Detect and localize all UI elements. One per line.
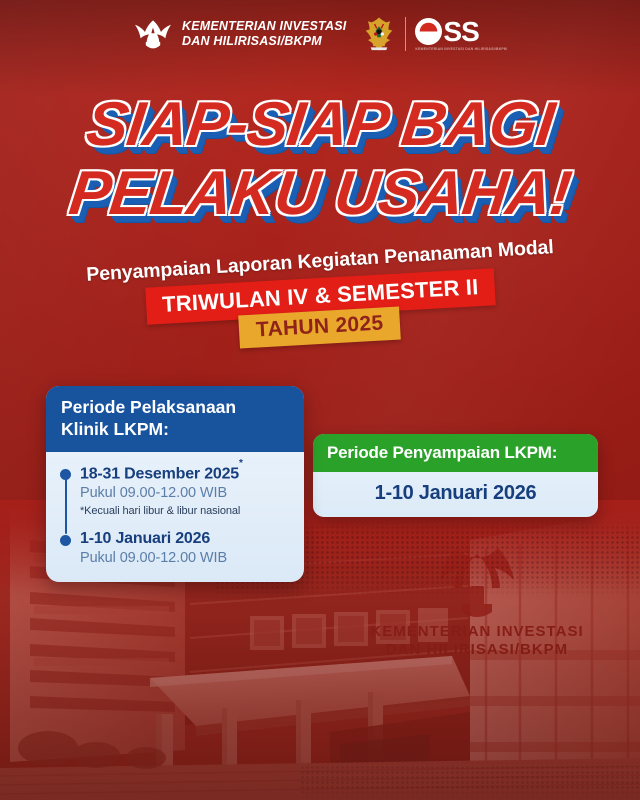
timeline-date: 18-31 Desember 2025*: [80, 464, 292, 484]
timeline-connector: [65, 475, 68, 535]
clinic-timeline: 18-31 Desember 2025* Pukul 09.00-12.00 W…: [60, 464, 292, 569]
timeline-asterisk: *: [239, 458, 243, 469]
subtitle-group: Penyampaian Laporan Kegiatan Penanaman M…: [0, 250, 640, 344]
clinic-card-title-line1: Periode Pelaksanaan: [61, 397, 290, 419]
band-gold-row: TAHUN 2025: [0, 311, 640, 344]
dot-texture-lower: [300, 760, 640, 800]
submission-period-card: Periode Penyampaian LKPM: 1-10 Januari 2…: [313, 434, 598, 517]
clinic-card-body: 18-31 Desember 2025* Pukul 09.00-12.00 W…: [46, 452, 304, 583]
oss-indonesian-flag-circle-icon: [415, 18, 442, 45]
ministry-name-line1: KEMENTERIAN INVESTASI: [182, 19, 346, 34]
ministry-name-line2: DAN HILIRISASI/BKPM: [182, 34, 346, 49]
clinic-card-title: Periode Pelaksanaan Klinik LKPM:: [46, 386, 304, 452]
timeline-time: Pukul 09.00-12.00 WIB: [80, 484, 292, 503]
timeline-note: *Kecuali hari libur & libur nasional: [80, 505, 292, 519]
header-logos: KEMENTERIAN INVESTASI DAN HILIRISASI/BKP…: [0, 14, 640, 54]
timeline-dot-icon: [60, 469, 71, 480]
oss-logo: SS KEMENTERIAN INVESTASI DAN HILIRISASI/…: [415, 18, 507, 51]
timeline-dot-icon: [60, 535, 71, 546]
submission-card-body: 1-10 Januari 2026: [313, 472, 598, 517]
clinic-card-title-line2: Klinik LKPM:: [61, 419, 290, 441]
oss-letters: SS: [443, 18, 478, 45]
headline-line-2: PELAKU USAHA!: [0, 165, 640, 222]
logo-divider: [405, 17, 406, 51]
headline-line-1: SIAP-SIAP BAGI: [0, 96, 640, 153]
timeline-time: Pukul 09.00-12.00 WIB: [80, 549, 292, 568]
oss-wordmark: SS: [415, 18, 478, 45]
timeline-entry: 1-10 Januari 2026 Pukul 09.00-12.00 WIB: [80, 530, 292, 568]
timeline-entry: 18-31 Desember 2025* Pukul 09.00-12.00 W…: [80, 464, 292, 519]
submission-card-title: Periode Penyampaian LKPM:: [313, 434, 598, 472]
garuda-pancasila-icon: [362, 14, 396, 54]
ministry-fan-logo-icon: [133, 14, 173, 54]
timeline-date: 1-10 Januari 2026: [80, 530, 292, 548]
headline: SIAP-SIAP BAGI PELAKU USAHA!: [0, 96, 640, 222]
oss-subtitle: KEMENTERIAN INVESTASI DAN HILIRISASI/BKP…: [415, 47, 507, 51]
poster-root: KEMENTERIAN INVESTASI DAN HILIRISASI/BKP…: [0, 0, 640, 800]
ministry-brand: KEMENTERIAN INVESTASI DAN HILIRISASI/BKP…: [133, 14, 346, 54]
oss-brand: SS KEMENTERIAN INVESTASI DAN HILIRISASI/…: [362, 14, 507, 54]
ministry-name: KEMENTERIAN INVESTASI DAN HILIRISASI/BKP…: [182, 19, 346, 49]
timeline-date-text: 18-31 Desember 2025: [80, 465, 239, 482]
timeline-date-text: 1-10 Januari 2026: [80, 530, 210, 547]
clinic-period-card: Periode Pelaksanaan Klinik LKPM: 18-31 D…: [46, 386, 304, 582]
submission-card-date: 1-10 Januari 2026: [323, 482, 588, 505]
